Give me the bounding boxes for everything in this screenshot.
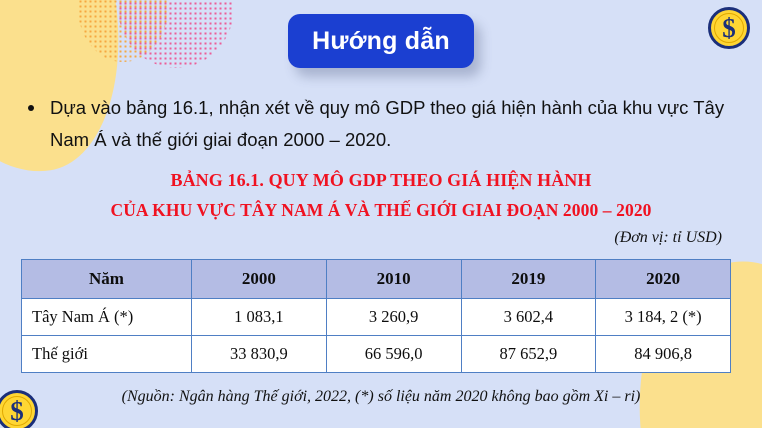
cell-tay-nam-a-2010: 3 260,9 (326, 299, 461, 336)
cell-tay-nam-a-2020: 3 184, 2 (*) (596, 299, 731, 336)
cell-tay-nam-a-2000: 1 083,1 (192, 299, 327, 336)
cell-the-gioi-2020: 84 906,8 (596, 336, 731, 373)
dollar-glyph: $ (722, 15, 736, 42)
bullet-dot-icon (28, 105, 34, 111)
slide-title-badge: Hướng dẫn (288, 14, 474, 68)
slide-canvas: $ $ Hướng dẫn Dựa vào bảng 16.1, nhận xé… (0, 0, 762, 428)
table-header-row: Năm 2000 2010 2019 2020 (22, 260, 731, 299)
column-header-2020: 2020 (596, 260, 731, 299)
table-caption-line-2: CỦA KHU VỰC TÂY NAM Á VÀ THẾ GIỚI GIAI Đ… (0, 200, 762, 221)
table-caption-line-1: BẢNG 16.1. QUY MÔ GDP THEO GIÁ HIỆN HÀNH (0, 170, 762, 191)
page-title: Hướng dẫn (312, 27, 450, 56)
cell-the-gioi-2010: 66 596,0 (326, 336, 461, 373)
gdp-data-table: Năm 2000 2010 2019 2020 Tây Nam Á (*) 1 … (21, 259, 731, 373)
column-header-2019: 2019 (461, 260, 596, 299)
column-header-2010: 2010 (326, 260, 461, 299)
table-unit-note: (Đơn vị: tỉ USD) (614, 229, 722, 247)
instruction-bullet: Dựa vào bảng 16.1, nhận xét về quy mô GD… (28, 92, 734, 157)
column-header-2000: 2000 (192, 260, 327, 299)
row-label-tay-nam-a: Tây Nam Á (*) (22, 299, 192, 336)
table-caption: BẢNG 16.1. QUY MÔ GDP THEO GIÁ HIỆN HÀNH… (0, 170, 762, 221)
table-row: Tây Nam Á (*) 1 083,1 3 260,9 3 602,4 3 … (22, 299, 731, 336)
cell-the-gioi-2019: 87 652,9 (461, 336, 596, 373)
cell-tay-nam-a-2019: 3 602,4 (461, 299, 596, 336)
dollar-glyph: $ (10, 398, 24, 425)
instruction-text: Dựa vào bảng 16.1, nhận xét về quy mô GD… (50, 92, 734, 157)
table-row: Thế giới 33 830,9 66 596,0 87 652,9 84 9… (22, 336, 731, 373)
cell-the-gioi-2000: 33 830,9 (192, 336, 327, 373)
table-source-note: (Nguồn: Ngân hàng Thế giới, 2022, (*) số… (0, 388, 762, 406)
decorative-yellow-strip-right (732, 282, 762, 370)
row-label-the-gioi: Thế giới (22, 336, 192, 373)
column-header-year: Năm (22, 260, 192, 299)
coin-dollar-icon: $ (708, 7, 750, 49)
